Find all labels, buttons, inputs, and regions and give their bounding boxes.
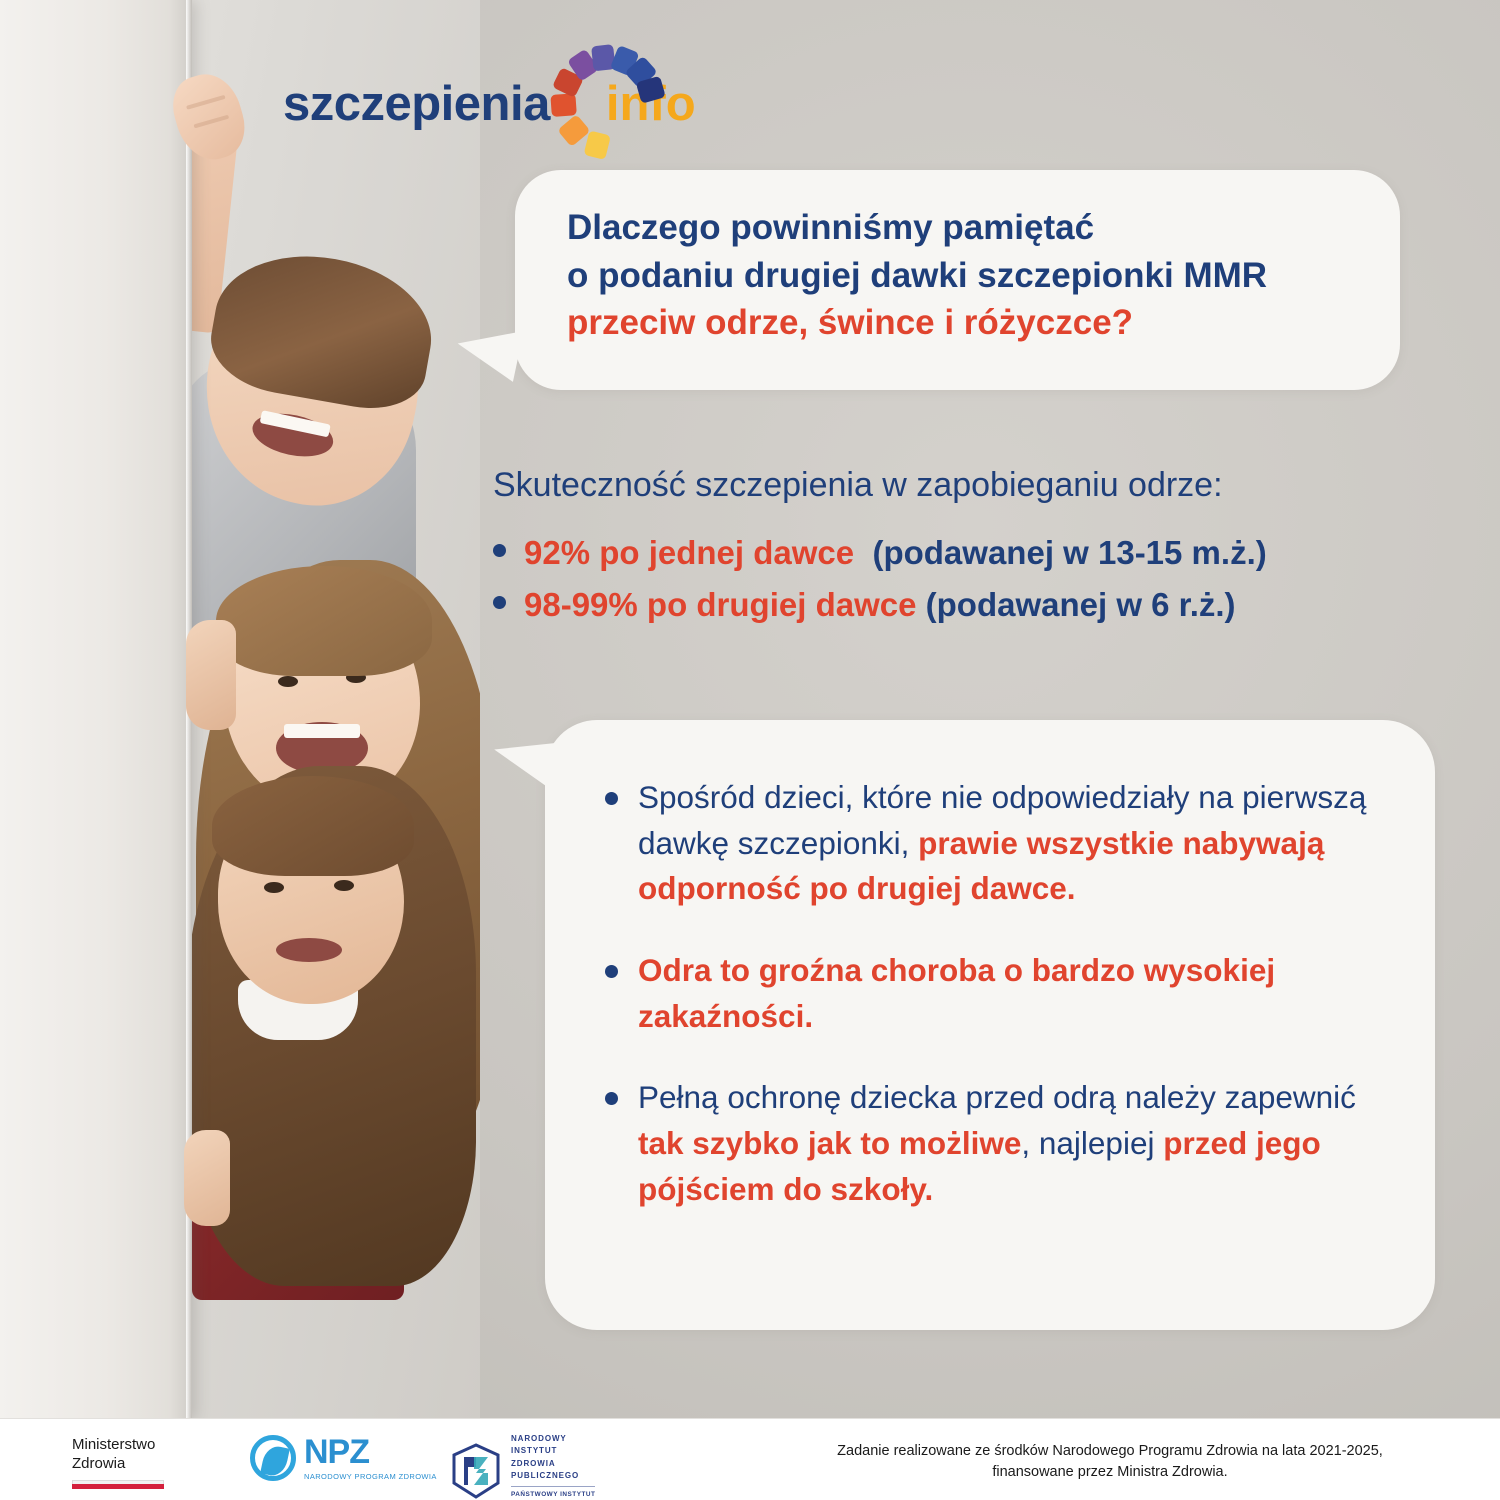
bubble-tail [494,743,564,805]
bullet-dot-icon [493,544,506,557]
stat-detail: (podawanej w 6 r.ż.) [926,586,1236,624]
fact-bold-1: Odra to groźna choroba o bardzo wysokiej… [638,952,1275,1034]
headline-line-2: o podaniu drugiej dawki szczepionki MMR [567,252,1354,300]
pzh-text-block: NARODOWY INSTYTUT ZDROWIA PUBLICZNEGO PA… [511,1433,595,1500]
pzh-shield-icon [450,1443,502,1499]
szczepienia-info-logo[interactable]: szczepienia info [283,42,696,166]
npz-leaf-icon [260,1444,290,1478]
funding-note: Zadanie realizowane ze środków Narodoweg… [760,1441,1460,1483]
stat-row: 98-99% po drugiej dawce (podawanej w 6 r… [493,586,1453,624]
fact-text: Odra to groźna choroba o bardzo wysokiej… [638,948,1379,1039]
pzh-line-1: NARODOWY [511,1433,595,1445]
bullet-dot-icon [605,1092,618,1105]
pzh-line-3: ZDROWIA [511,1458,595,1470]
fact-bold-1: tak szybko jak to możliwe [638,1125,1021,1161]
bullet-dot-icon [605,965,618,978]
npz-circle-icon [250,1435,296,1481]
bullet-dot-icon [493,596,506,609]
pzh-small-1: PAŃSTWOWY INSTYTUT [511,1486,595,1499]
funding-line-1: Zadanie realizowane ze środków Narodoweg… [760,1441,1460,1462]
npz-title: NPZ [304,1433,369,1471]
girl-one-eye-left [278,676,298,687]
stats-title: Skuteczność szczepienia w zapobieganiu o… [493,465,1453,506]
girl-two-eye-right [334,880,354,891]
list-item: Pełną ochronę dziecka przed odrą należy … [605,1075,1379,1212]
headline-text-block: Dlaczego powinniśmy pamiętać o podaniu d… [515,170,1400,347]
flag-red-stripe [72,1484,164,1489]
npz-text-block: NPZ NARODOWY PROGRAM ZDROWIA [304,1435,437,1481]
girl-one-fringe [216,566,432,676]
funding-line-2: finansowane przez Ministra Zdrowia. [760,1462,1460,1483]
logo-svg [544,38,672,166]
list-item: Odra to groźna choroba o bardzo wysokiej… [605,948,1379,1039]
headline-line-3: przeciw odrze, śwince i różyczce? [567,299,1354,347]
ministry-line-2: Zdrowia [72,1454,164,1473]
pzh-line-4: PUBLICZNEGO [511,1470,595,1482]
girl-two-mouth [276,938,342,962]
facts-list: Spośród dzieci, które nie odpowiedziały … [545,720,1435,1212]
stat-highlight: 98-99% po drugiej dawce [524,586,916,624]
fact-text: Pełną ochronę dziecka przed odrą należy … [638,1075,1379,1212]
girl-two-hand-on-wall [184,1130,230,1226]
footer-bar: Ministerstwo Zdrowia NPZ NARODOWY PROGRA… [0,1418,1500,1500]
fact-text: Spośród dzieci, które nie odpowiedziały … [638,775,1379,912]
pzh-line-2: INSTYTUT [511,1445,595,1457]
stat-detail: (podawanej w 13-15 m.ż.) [872,534,1266,572]
npz-logo: NPZ NARODOWY PROGRAM ZDROWIA [250,1435,437,1481]
list-item: Spośród dzieci, które nie odpowiedziały … [605,775,1379,912]
ministry-of-health-logo: Ministerstwo Zdrowia [72,1435,164,1489]
girl-one-teeth [284,724,360,738]
polish-flag-icon [72,1480,164,1489]
fact-plain-2: , najlepiej [1021,1125,1163,1161]
stat-highlight: 92% po jednej dawce [524,534,854,572]
girl-one-hand-on-wall [186,620,236,730]
bullet-dot-icon [605,792,618,805]
girl-two-eye-left [264,882,284,893]
npz-subtitle: NARODOWY PROGRAM ZDROWIA [304,1473,437,1481]
stat-row: 92% po jednej dawce (podawanej w 13-15 m… [493,534,1453,572]
poster-canvas: szczepienia info Dlaczego pow [0,0,1500,1500]
logo-wordmark: szczepienia [283,80,550,129]
efficacy-stats-block: Skuteczność szczepienia w zapobieganiu o… [493,465,1453,638]
circular-segments-logo-icon [544,38,672,166]
fact-plain-1: Pełną ochronę dziecka przed odrą należy … [638,1079,1356,1115]
headline-line-1: Dlaczego powinniśmy pamiętać [567,204,1354,252]
headline-speech-bubble: Dlaczego powinniśmy pamiętać o podaniu d… [515,170,1400,390]
facts-speech-bubble: Spośród dzieci, które nie odpowiedziały … [545,720,1435,1330]
wall-panel [0,0,192,1420]
children-photo [0,0,480,1420]
pzh-logo: NARODOWY INSTYTUT ZDROWIA PUBLICZNEGO PA… [450,1433,595,1500]
ministry-line-1: Ministerstwo [72,1435,164,1454]
girl-two-fringe [212,776,414,876]
